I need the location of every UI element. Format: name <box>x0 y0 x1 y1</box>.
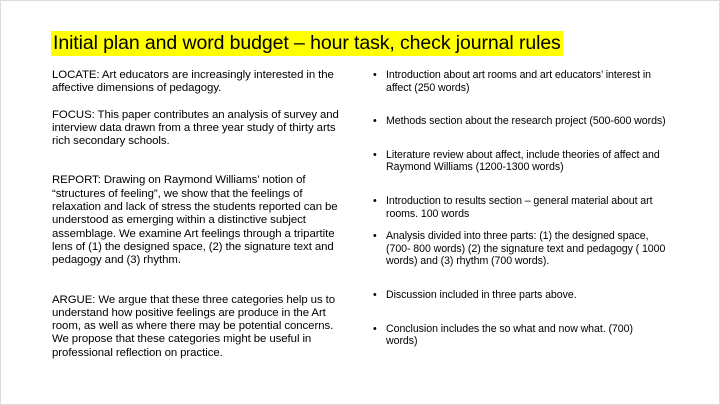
bullet-point-icon: • <box>373 115 377 128</box>
bullet-point-icon: • <box>373 69 377 82</box>
bullet-point-icon: • <box>373 149 377 162</box>
slide-canvas: Initial plan and word budget – hour task… <box>0 0 720 405</box>
list-item: • Methods section about the research pro… <box>371 115 667 128</box>
bullet-point-icon: • <box>373 323 377 336</box>
list-item-label: Analysis divided into three parts: (1) t… <box>386 230 665 267</box>
bullet-point-icon: • <box>373 289 377 302</box>
list-item-label: Literature review about affect, include … <box>386 149 660 174</box>
list-item-label: Methods section about the research proje… <box>386 115 666 127</box>
paragraph-report: REPORT: Drawing on Raymond Williams’ not… <box>52 174 352 267</box>
list-item: • Literature review about affect, includ… <box>371 149 667 174</box>
left-content-column: LOCATE: Art educators are increasingly i… <box>52 69 352 360</box>
list-item: • Conclusion includes the so what and no… <box>371 323 667 348</box>
list-item-label: Discussion included in three parts above… <box>386 289 577 301</box>
word-budget-bullet-list: • Introduction about art rooms and art e… <box>371 69 667 348</box>
list-item: • Introduction about art rooms and art e… <box>371 69 667 94</box>
right-content-column: • Introduction about art rooms and art e… <box>371 69 667 348</box>
paragraph-locate: LOCATE: Art educators are increasingly i… <box>52 69 352 96</box>
slide-title-block: Initial plan and word budget – hour task… <box>51 29 671 61</box>
paragraph-argue: ARGUE: We argue that these three categor… <box>52 294 352 360</box>
bullet-point-icon: • <box>373 230 377 243</box>
list-item: • Discussion included in three parts abo… <box>371 289 667 302</box>
paragraph-focus: FOCUS: This paper contributes an analysi… <box>52 109 352 149</box>
bullet-point-icon: • <box>373 195 377 208</box>
page-title: Initial plan and word budget – hour task… <box>51 31 563 56</box>
list-item-label: Introduction about art rooms and art edu… <box>386 69 651 94</box>
list-item: • Analysis divided into three parts: (1)… <box>371 230 667 268</box>
list-item: • Introduction to results section – gene… <box>371 195 667 220</box>
list-item-label: Conclusion includes the so what and now … <box>386 323 633 348</box>
list-item-label: Introduction to results section – genera… <box>386 195 653 220</box>
